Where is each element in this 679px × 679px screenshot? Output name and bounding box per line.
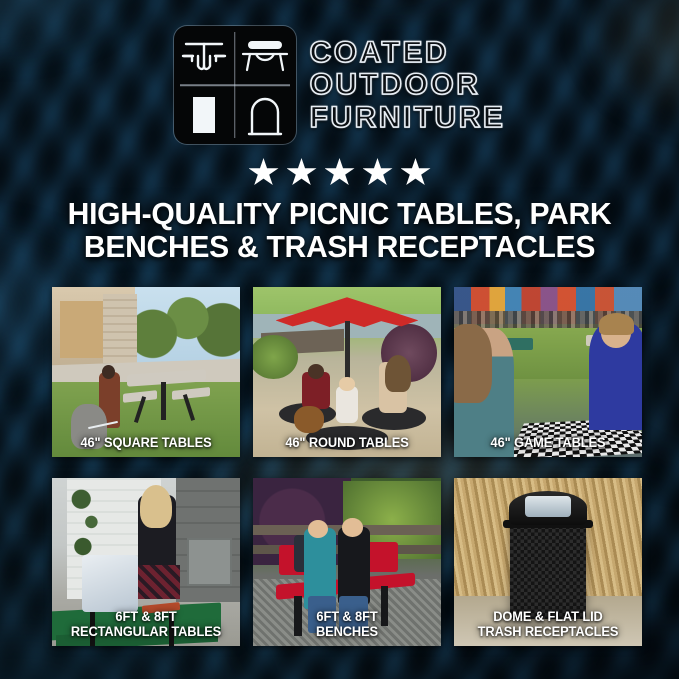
wordmark-line-2: OUTDOOR [310, 69, 506, 101]
product-caption: 46" GAME TABLES [463, 435, 634, 450]
caption-line-1: 46" GAME TABLES [491, 435, 606, 450]
photo-woman-hair [454, 324, 492, 402]
trash-receptacle-icon [174, 85, 235, 144]
photo-boy-right-head [342, 518, 363, 536]
product-tile-round-tables[interactable]: 46" ROUND TABLES [253, 287, 441, 457]
product-caption: DOME & FLAT LID TRASH RECEPTACLES [463, 609, 634, 639]
photo-dog [294, 406, 324, 433]
photo-table-leg [161, 382, 166, 419]
product-photo [253, 287, 441, 457]
brand-header: COATED OUTDOOR FURNITURE [0, 26, 679, 144]
caption-line-1: 6FT & 8FT [115, 609, 176, 624]
product-tile-benches[interactable]: 6FT & 8FT BENCHES [253, 478, 441, 646]
promotional-poster: COATED OUTDOOR FURNITURE HIGH-QUALITY PI… [0, 0, 679, 679]
photo-trees [131, 287, 240, 365]
photo-person-head [102, 365, 115, 379]
caption-line-2: BENCHES [262, 624, 433, 639]
photo-woman-skirt [138, 565, 179, 599]
star-icon [325, 158, 355, 187]
product-grid: 46" SQUARE TABLES [52, 287, 628, 646]
photo-boy-right [338, 527, 370, 604]
caption-line-1: DOME & FLAT LID [493, 609, 602, 624]
coated-outdoor-furniture-logo-icon [174, 26, 296, 144]
caption-line-2: TRASH RECEPTACLES [463, 624, 634, 639]
photo-garage-door [60, 301, 103, 359]
caption-line-2: RECTANGULAR TABLES [61, 624, 232, 639]
product-tile-game-tables[interactable]: 46" GAME TABLES [454, 287, 642, 457]
picnic-table-icon [174, 26, 235, 85]
product-tile-trash-receptacles[interactable]: DOME & FLAT LID TRASH RECEPTACLES [454, 478, 642, 646]
caption-line-1: 6FT & 8FT [316, 609, 377, 624]
photo-bench-back-right [366, 542, 398, 572]
star-icon [249, 158, 279, 187]
product-caption: 46" SQUARE TABLES [61, 435, 232, 450]
photo-woman-hair [140, 485, 172, 529]
star-icon [363, 158, 393, 187]
photo-ac-unit [187, 538, 232, 586]
headline-line-1: HIGH-QUALITY PICNIC TABLES, PARK [68, 196, 612, 231]
product-caption: 6FT & 8FT RECTANGULAR TABLES [61, 609, 232, 639]
photo-boy-hair [599, 313, 635, 335]
product-caption: 6FT & 8FT BENCHES [262, 609, 433, 639]
photo-adult-right-hair [385, 355, 411, 392]
product-tile-square-tables[interactable]: 46" SQUARE TABLES [52, 287, 240, 457]
product-tile-rectangular-tables[interactable]: 6FT & 8FT RECTANGULAR TABLES [52, 478, 240, 646]
photo-child [336, 386, 359, 423]
headline: HIGH-QUALITY PICNIC TABLES, PARK BENCHES… [39, 198, 639, 264]
star-rating [0, 158, 679, 187]
caption-line-1: 46" ROUND TABLES [285, 435, 408, 450]
product-caption: 46" ROUND TABLES [262, 435, 433, 450]
wordmark-line-1: COATED [310, 37, 506, 69]
product-photo [52, 287, 240, 457]
caption-line-1: 46" SQUARE TABLES [80, 435, 211, 450]
wordmark-line-3: FURNITURE [310, 102, 506, 134]
photo-mesh-receptacle-body [510, 515, 585, 619]
park-bench-icon [235, 26, 296, 85]
brand-wordmark: COATED OUTDOOR FURNITURE [310, 37, 506, 134]
photo-dome-opening [525, 496, 570, 516]
photo-soil-bag [82, 555, 138, 612]
headline-line-2: BENCHES & TRASH RECEPTACLES [39, 231, 639, 264]
bike-rack-icon [235, 85, 296, 144]
photo-adult-head [308, 364, 325, 379]
photo-child-head [339, 377, 354, 391]
star-icon [287, 158, 317, 187]
star-icon [401, 158, 431, 187]
product-photo [454, 287, 642, 457]
photo-shrub-left [253, 335, 298, 379]
